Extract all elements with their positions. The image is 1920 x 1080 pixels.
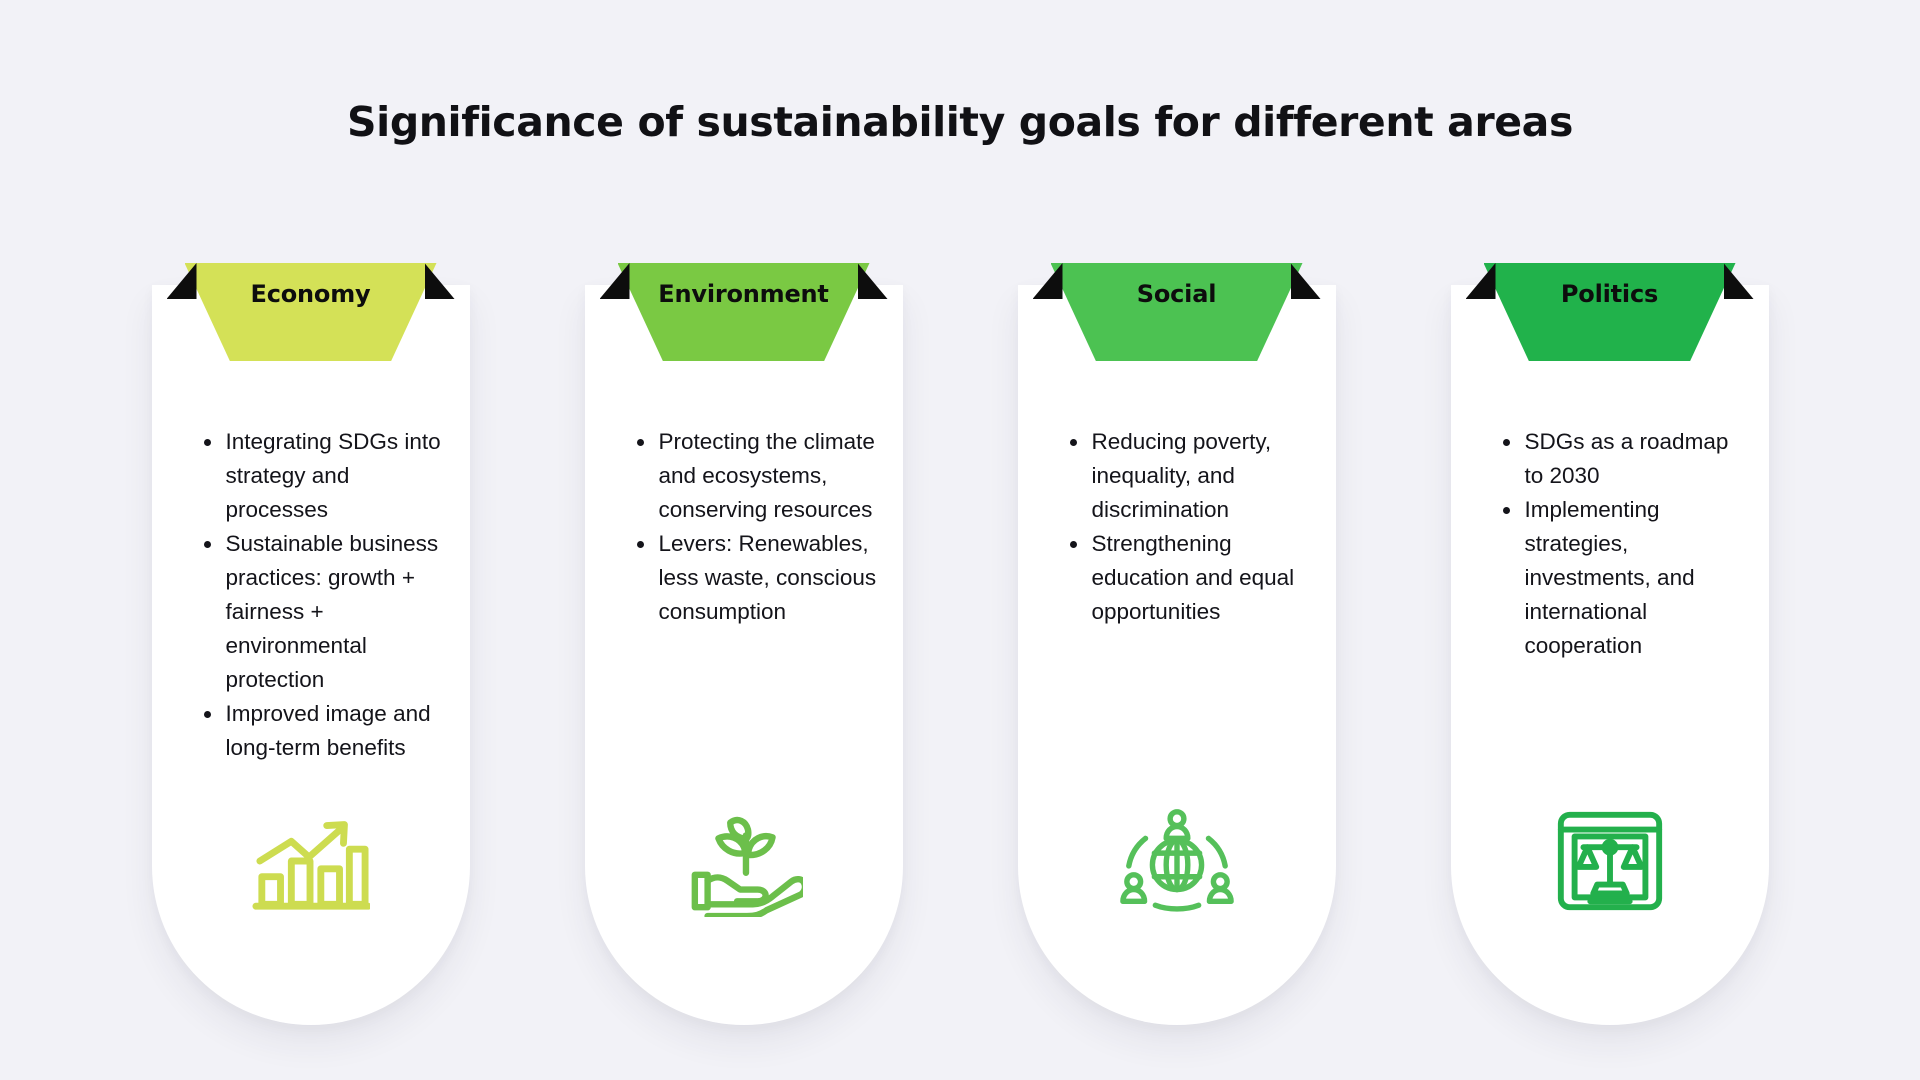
card-header-environment: Environment bbox=[618, 263, 870, 361]
list-item: Improved image and long-term benefits bbox=[198, 697, 444, 765]
card-economy[interactable]: Economy Integrating SDGs into strategy a… bbox=[152, 285, 470, 1025]
bullet-list-social: Reducing poverty, inequality, and discri… bbox=[1064, 425, 1310, 629]
bullet-list-environment: Protecting the climate and ecosystems, c… bbox=[631, 425, 877, 629]
card-title-politics: Politics bbox=[1484, 263, 1736, 325]
page-title: Significance of sustainability goals for… bbox=[0, 98, 1920, 146]
card-social[interactable]: Social Reducing poverty, inequality, and… bbox=[1018, 285, 1336, 1025]
infographic-page: Significance of sustainability goals for… bbox=[0, 0, 1920, 1080]
bullet-list-economy: Integrating SDGs into strategy and proce… bbox=[198, 425, 444, 765]
card-politics[interactable]: Politics SDGs as a roadmap to 2030 Imple… bbox=[1451, 285, 1769, 1025]
card-header-economy: Economy bbox=[185, 263, 437, 361]
card-header-social: Social bbox=[1051, 263, 1303, 361]
list-item: Strengthening education and equal opport… bbox=[1064, 527, 1310, 629]
card-environment[interactable]: Environment Protecting the climate and e… bbox=[585, 285, 903, 1025]
bullet-list-politics: SDGs as a roadmap to 2030 Implementing s… bbox=[1497, 425, 1743, 663]
hand-holding-plant-icon bbox=[685, 805, 803, 917]
card-title-environment: Environment bbox=[618, 263, 870, 325]
card-header-politics: Politics bbox=[1484, 263, 1736, 361]
list-item: Levers: Renewables, less waste, consciou… bbox=[631, 527, 877, 629]
globe-people-network-icon bbox=[1118, 805, 1236, 917]
card-title-economy: Economy bbox=[185, 263, 437, 325]
list-item: Sustainable business practices: growth +… bbox=[198, 527, 444, 697]
list-item: Reducing poverty, inequality, and discri… bbox=[1064, 425, 1310, 527]
list-item: Integrating SDGs into strategy and proce… bbox=[198, 425, 444, 527]
card-title-social: Social bbox=[1051, 263, 1303, 325]
justice-scales-book-icon bbox=[1551, 805, 1669, 917]
list-item: Implementing strategies, investments, an… bbox=[1497, 493, 1743, 663]
list-item: Protecting the climate and ecosystems, c… bbox=[631, 425, 877, 527]
list-item: SDGs as a roadmap to 2030 bbox=[1497, 425, 1743, 493]
cards-row: Economy Integrating SDGs into strategy a… bbox=[0, 285, 1920, 1025]
bar-chart-growth-icon bbox=[252, 805, 370, 917]
